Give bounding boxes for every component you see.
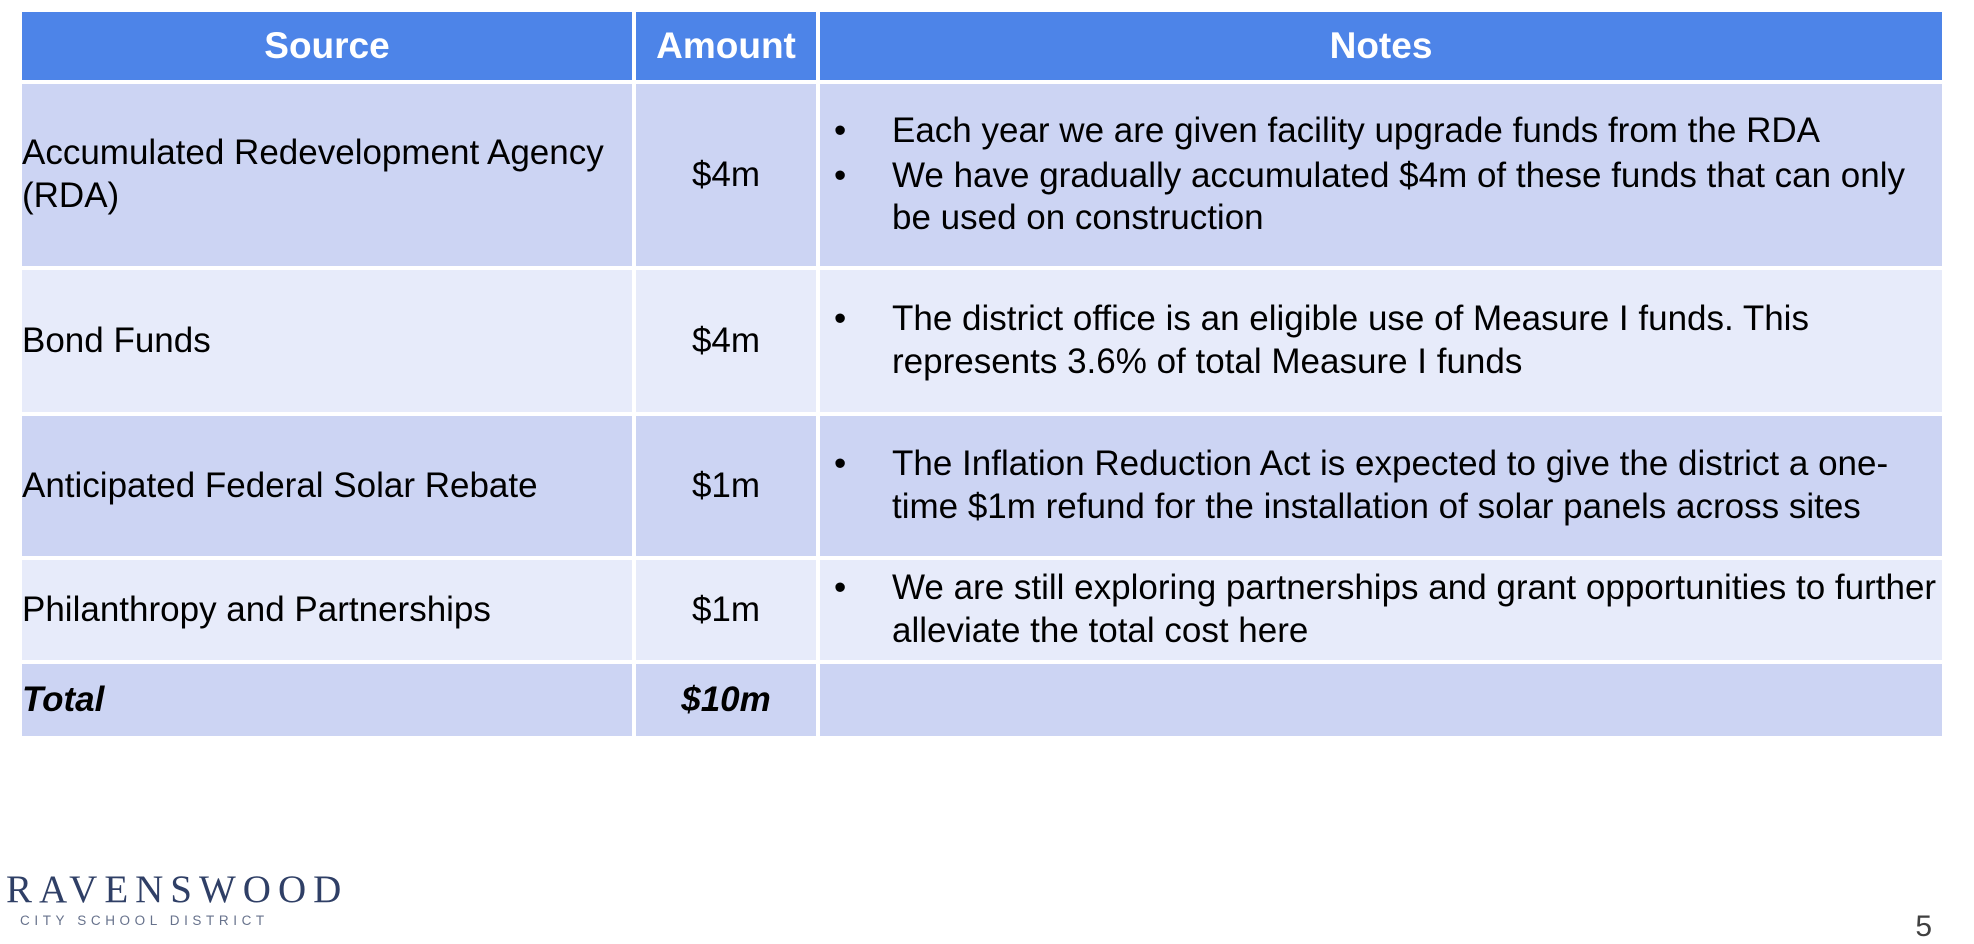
cell-notes: • The district office is an eligible use… [820,270,1942,412]
cell-source: Anticipated Federal Solar Rebate [22,416,632,556]
slide-canvas: RAVENSWOOD CITY SCHOOL DISTRICT 5 Source… [0,0,1974,938]
note-text: The Inflation Reduction Act is expected … [892,444,1888,526]
table-body: Accumulated Redevelopment Agency (RDA) $… [22,84,1942,736]
column-header-source: Source [22,12,632,80]
cell-total-notes [820,664,1942,736]
page-number: 5 [1915,910,1932,944]
bullet-icon: • [834,443,846,486]
note-text: We have gradually accumulated $4m of the… [892,156,1905,238]
note-item: • We are still exploring partnerships an… [820,567,1942,652]
cell-amount: $1m [636,416,816,556]
table-header: Source Amount Notes [22,12,1942,80]
cell-source: Bond Funds [22,270,632,412]
cell-amount: $4m [636,270,816,412]
bullet-icon: • [834,110,846,153]
funding-sources-table: Source Amount Notes Accumulated Redevelo… [18,8,1946,740]
district-logo: RAVENSWOOD CITY SCHOOL DISTRICT [6,864,306,934]
cell-notes: • The Inflation Reduction Act is expecte… [820,416,1942,556]
cell-notes: • We are still exploring partnerships an… [820,560,1942,660]
notes-list: • The district office is an eligible use… [820,298,1942,383]
notes-list: • The Inflation Reduction Act is expecte… [820,443,1942,528]
bullet-icon: • [834,567,846,610]
note-item: • The district office is an eligible use… [820,298,1942,383]
bullet-icon: • [834,155,846,198]
cell-total-amount: $10m [636,664,816,736]
note-item: • The Inflation Reduction Act is expecte… [820,443,1942,528]
logo-wordmark: RAVENSWOOD [6,870,348,909]
cell-amount: $4m [636,84,816,266]
note-item: • We have gradually accumulated $4m of t… [820,155,1942,240]
table-row: Bond Funds $4m • The district office is … [22,270,1942,412]
cell-source: Accumulated Redevelopment Agency (RDA) [22,84,632,266]
table-row-total: Total $10m [22,664,1942,736]
logo-tagline: CITY SCHOOL DISTRICT [20,914,269,928]
table-header-row: Source Amount Notes [22,12,1942,80]
table-row: Anticipated Federal Solar Rebate $1m • T… [22,416,1942,556]
funding-sources-table-wrap: Source Amount Notes Accumulated Redevelo… [22,12,1950,736]
table-row: Philanthropy and Partnerships $1m • We a… [22,560,1942,660]
cell-notes: • Each year we are given facility upgrad… [820,84,1942,266]
table-row: Accumulated Redevelopment Agency (RDA) $… [22,84,1942,266]
note-text: Each year we are given facility upgrade … [892,111,1820,150]
note-text: The district office is an eligible use o… [892,299,1809,381]
cell-total-label: Total [22,664,632,736]
cell-amount: $1m [636,560,816,660]
note-text: We are still exploring partnerships and … [892,568,1936,650]
cell-source: Philanthropy and Partnerships [22,560,632,660]
bullet-icon: • [834,298,846,341]
notes-list: • We are still exploring partnerships an… [820,567,1942,652]
note-item: • Each year we are given facility upgrad… [820,110,1942,153]
notes-list: • Each year we are given facility upgrad… [820,110,1942,240]
column-header-notes: Notes [820,12,1942,80]
column-header-amount: Amount [636,12,816,80]
